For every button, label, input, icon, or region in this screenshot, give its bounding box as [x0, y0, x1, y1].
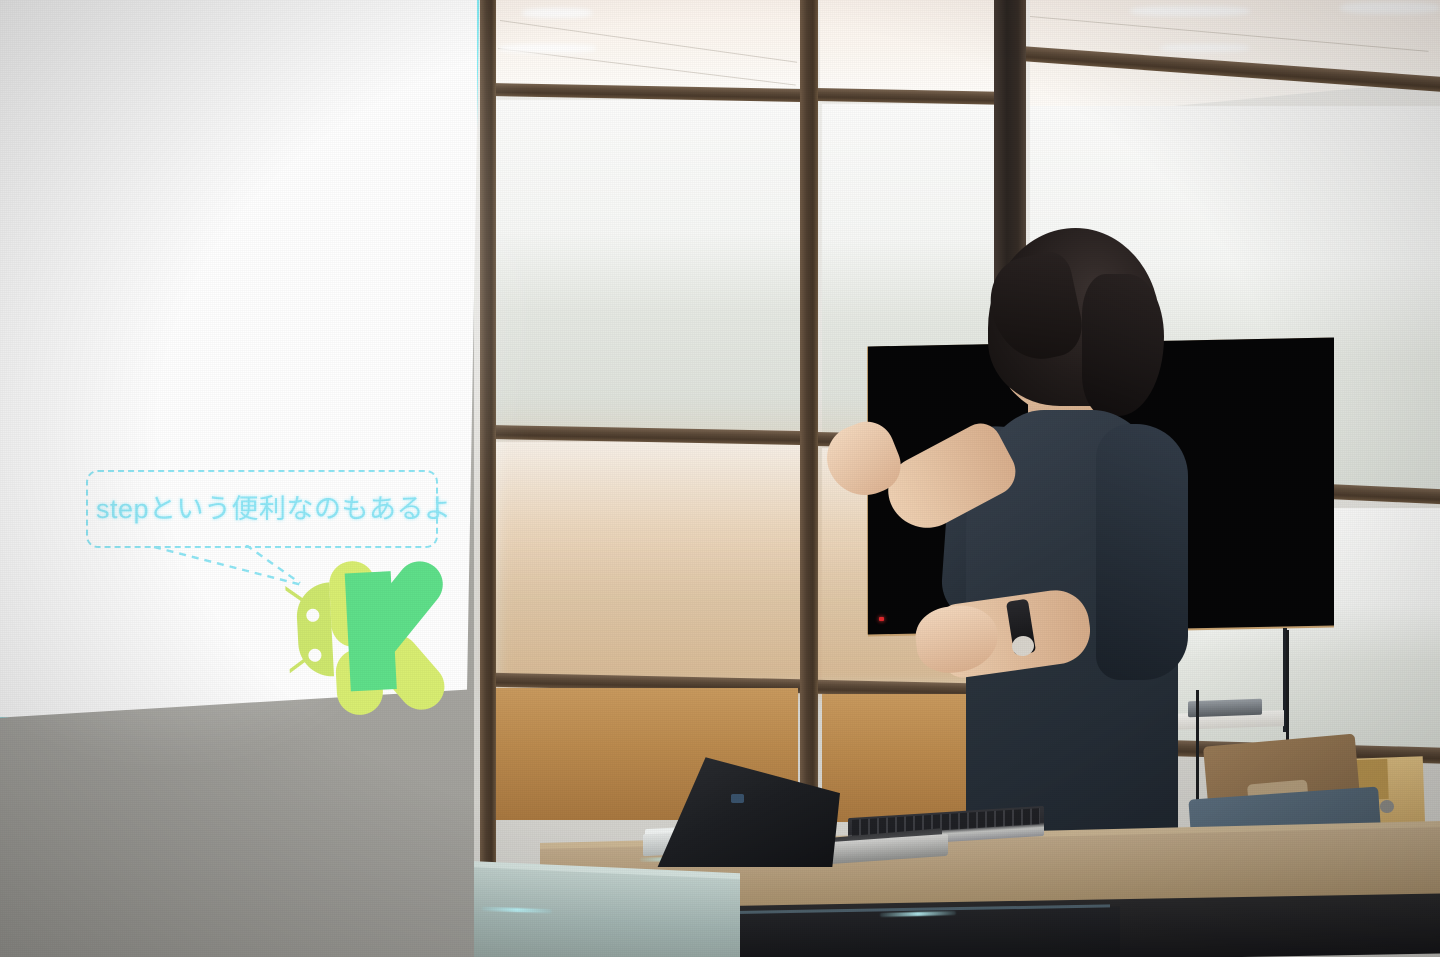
presenter-hair-back	[1082, 274, 1164, 416]
ceiling-light-3	[1130, 6, 1250, 16]
frame-h-top-mid	[816, 88, 1012, 105]
glass-pane-upper-mid	[820, 0, 1010, 92]
android-kotlin-k-logo	[284, 552, 468, 721]
tv-power-led-icon	[879, 617, 884, 621]
ceiling-light-4	[1160, 44, 1250, 52]
presentation-room-photo: stepという便利なのもあるよ Tech talk presentation i…	[0, 0, 1440, 957]
frame-v-mid	[800, 0, 818, 880]
ceiling-light-5	[1340, 2, 1440, 14]
box-label-icon	[1380, 800, 1394, 813]
presenter-right-sleeve	[1096, 424, 1188, 680]
slide-bubble-text: stepという便利なのもあるよ	[96, 487, 436, 526]
laptop-logo-icon	[731, 794, 744, 803]
